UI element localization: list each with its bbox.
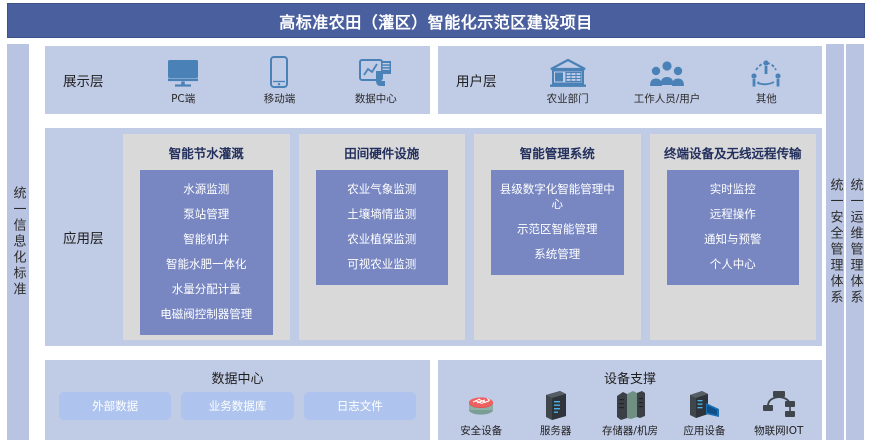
app-item[interactable]: 土壤墒情监测 (316, 202, 449, 227)
presentation-item-pc-label: PC端 (171, 91, 195, 106)
user-item-other[interactable]: 其他 (723, 54, 809, 106)
presentation-item-datacenter[interactable]: 数据中心 (333, 54, 419, 106)
data-center-title: 数据中心 (45, 368, 430, 387)
app-card-items: 县级数字化智能管理中心 示范区智能管理 系统管理 (491, 170, 624, 275)
left-rail-standards: 统一信息化标准 (7, 44, 29, 440)
right-rail-security-label: 统一安全管理体系 (829, 178, 842, 306)
data-dashboard-icon (359, 54, 393, 88)
app-item[interactable]: 农业气象监测 (316, 177, 449, 202)
monitor-icon (166, 54, 200, 88)
people-group-icon (648, 54, 686, 88)
application-layer-cards: 智能节水灌溉 水源监测 泵站管理 智能机井 智能水肥一体化 水量分配计量 电磁阀… (123, 134, 816, 340)
government-building-icon (549, 54, 587, 88)
right-rail-operations-label: 统一运维管理体系 (849, 178, 862, 306)
device-item-security-label: 安全设备 (460, 423, 502, 438)
mobile-phone-icon (268, 54, 290, 88)
app-item[interactable]: 远程操作 (667, 202, 800, 227)
presentation-layer-items: PC端 移动端 (135, 46, 424, 114)
app-item[interactable]: 系统管理 (491, 242, 624, 267)
right-rail-operations: 统一运维管理体系 (846, 44, 864, 440)
app-card-management-system[interactable]: 智能管理系统 县级数字化智能管理中心 示范区智能管理 系统管理 (474, 134, 641, 340)
app-item[interactable]: 智能水肥一体化 (140, 252, 273, 277)
data-center-items: 外部数据 业务数据库 日志文件 (59, 392, 416, 420)
app-item[interactable]: 个人中心 (667, 252, 800, 277)
user-item-agriculture-dept[interactable]: 农业部门 (525, 54, 611, 106)
data-center-chip-business-db[interactable]: 业务数据库 (181, 392, 293, 420)
device-item-server-label: 服务器 (540, 423, 572, 438)
device-item-server[interactable]: 服务器 (519, 386, 593, 438)
application-layer-panel: 应用层 智能节水灌溉 水源监测 泵站管理 智能机井 智能水肥一体化 水量分配计量… (45, 128, 822, 346)
iot-network-icon (762, 386, 796, 420)
right-rail-security: 统一安全管理体系 (826, 44, 844, 440)
application-layer-label: 应用层 (63, 227, 104, 247)
page-title-bar: 高标准农田（灌区）智能化示范区建设项目 (7, 3, 865, 38)
app-item[interactable]: 农业植保监测 (316, 227, 449, 252)
app-item[interactable]: 实时监控 (667, 177, 800, 202)
app-item[interactable]: 示范区智能管理 (491, 217, 624, 242)
app-card-title: 田间硬件设施 (338, 146, 425, 163)
presentation-item-mobile-label: 移动端 (264, 91, 296, 106)
presentation-item-pc[interactable]: PC端 (140, 54, 226, 106)
user-item-other-label: 其他 (756, 91, 777, 106)
app-card-items: 农业气象监测 土壤墒情监测 农业植保监测 可视农业监测 (316, 170, 449, 285)
app-card-title: 终端设备及无线远程传输 (658, 146, 808, 163)
app-item[interactable]: 水量分配计量 (140, 277, 273, 302)
presentation-item-mobile[interactable]: 移动端 (236, 54, 322, 106)
page-title: 高标准农田（灌区）智能化示范区建设项目 (279, 9, 593, 33)
app-item[interactable]: 通知与预警 (667, 227, 800, 252)
presentation-layer-label: 展示层 (63, 70, 104, 90)
app-item[interactable]: 县级数字化智能管理中心 (491, 177, 624, 217)
presentation-layer-panel: 展示层 PC端 (45, 46, 430, 114)
user-layer-label: 用户层 (456, 70, 497, 90)
app-card-terminal-transmission[interactable]: 终端设备及无线远程传输 实时监控 远程操作 通知与预警 个人中心 (650, 134, 817, 340)
user-layer-panel: 用户层 农业部门 (438, 46, 822, 114)
data-center-panel: 数据中心 外部数据 业务数据库 日志文件 (45, 360, 430, 440)
app-card-title: 智能节水灌溉 (163, 146, 250, 163)
presentation-item-datacenter-label: 数据中心 (355, 91, 397, 106)
app-item[interactable]: 电磁阀控制器管理 (140, 302, 273, 327)
device-item-application-label: 应用设备 (683, 423, 725, 438)
collaboration-icon (748, 54, 784, 88)
app-card-smart-irrigation[interactable]: 智能节水灌溉 水源监测 泵站管理 智能机井 智能水肥一体化 水量分配计量 电磁阀… (123, 134, 290, 340)
user-item-agriculture-dept-label: 农业部门 (547, 91, 589, 106)
left-rail-label: 统一信息化标准 (12, 186, 25, 298)
firewall-router-icon (464, 386, 498, 420)
data-center-chip-logs[interactable]: 日志文件 (304, 392, 416, 420)
user-item-staff[interactable]: 工作人员/用户 (624, 54, 710, 106)
app-item[interactable]: 水源监测 (140, 177, 273, 202)
device-item-application[interactable]: 应用设备 (667, 386, 741, 438)
app-card-items: 水源监测 泵站管理 智能机井 智能水肥一体化 水量分配计量 电磁阀控制器管理 (140, 170, 273, 335)
user-item-staff-label: 工作人员/用户 (634, 91, 701, 106)
storage-rack-icon (614, 386, 646, 420)
data-center-chip-external[interactable]: 外部数据 (59, 392, 171, 420)
server-tower-icon (542, 386, 570, 420)
app-item[interactable]: 泵站管理 (140, 202, 273, 227)
app-card-items: 实时监控 远程操作 通知与预警 个人中心 (667, 170, 800, 285)
device-support-items: 安全设备 服务器 (444, 386, 816, 438)
device-support-panel: 设备支撑 安全设备 (438, 360, 822, 440)
user-layer-items: 农业部门 工作人员/用户 (518, 46, 816, 114)
device-item-storage[interactable]: 存储器/机房 (593, 386, 667, 438)
device-item-security[interactable]: 安全设备 (444, 386, 518, 438)
device-item-iot-label: 物联网IOT (754, 423, 803, 438)
app-item[interactable]: 可视农业监测 (316, 252, 449, 277)
app-card-title: 智能管理系统 (514, 146, 601, 163)
app-card-field-hardware[interactable]: 田间硬件设施 农业气象监测 土壤墒情监测 农业植保监测 可视农业监测 (299, 134, 466, 340)
device-support-title: 设备支撑 (438, 368, 822, 387)
device-item-storage-label: 存储器/机房 (602, 423, 658, 438)
application-device-icon (687, 386, 721, 420)
architecture-diagram: 高标准农田（灌区）智能化示范区建设项目 统一信息化标准 统一安全管理体系 统一运… (0, 0, 870, 445)
device-item-iot[interactable]: 物联网IOT (742, 386, 816, 438)
app-item[interactable]: 智能机井 (140, 227, 273, 252)
